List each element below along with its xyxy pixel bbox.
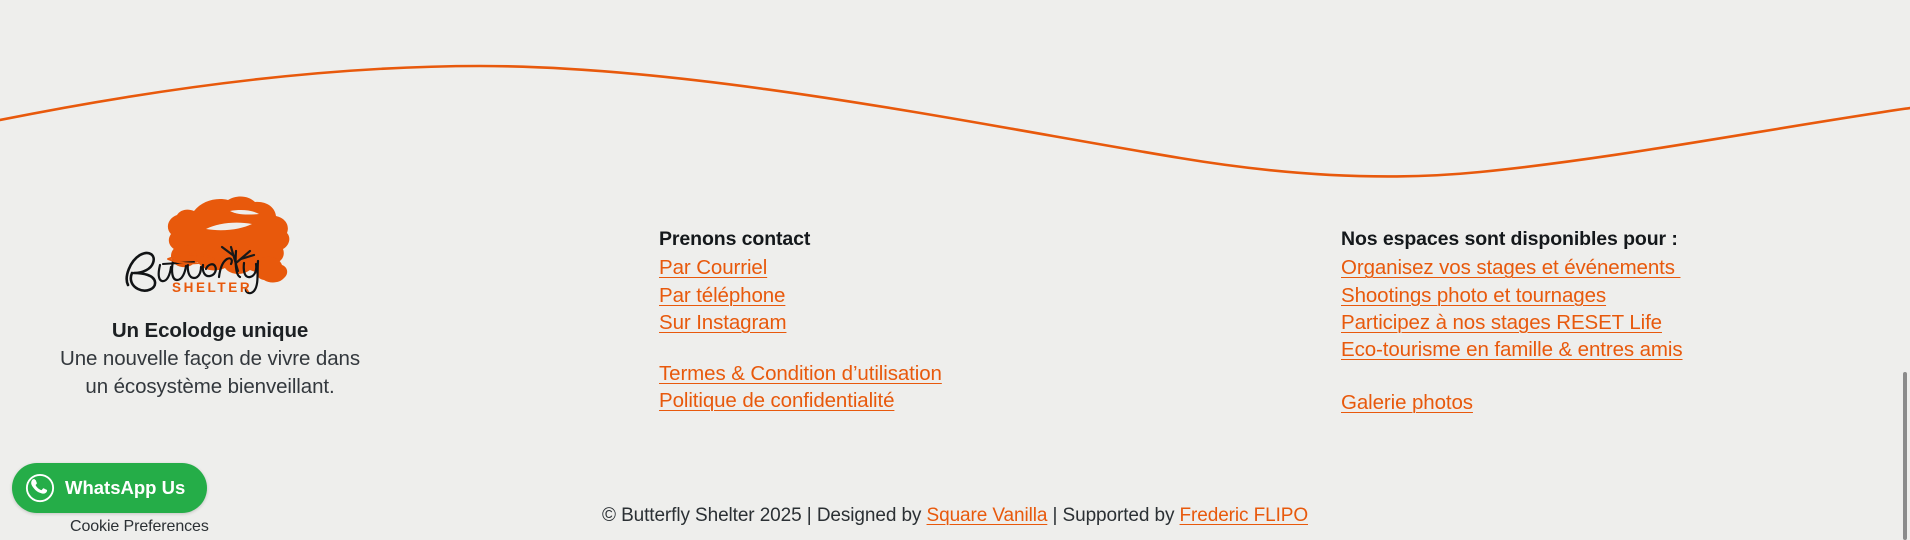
contact-link-phone[interactable]: Par téléphone [659,284,785,307]
designed-by-label: Designed by [817,505,922,526]
footer-spaces-column: Nos espaces sont disponibles pour : Orga… [1341,228,1801,418]
contact-link-instagram[interactable]: Sur Instagram [659,311,786,334]
footer-bottom-bar: © Butterfly Shelter 2025 | Designed by S… [0,505,1910,527]
bottom-separator-1: | [807,505,812,526]
brand-tagline-line-2: un écosystème bienveillant. [0,373,420,401]
site-footer: SHELTER Un Ecolodge unique Une nouvelle … [0,0,1910,540]
brand-tagline-line-1: Une nouvelle façon de vivre dans [0,345,420,373]
spaces-link-ecotourism[interactable]: Eco-tourisme en famille & entres amis [1341,338,1683,361]
logo-shelter-text: SHELTER [172,280,252,295]
bottom-separator-2: | [1053,505,1058,526]
supporter-link[interactable]: Frederic FLIPO [1180,505,1308,526]
whatsapp-icon [25,473,55,503]
designer-link[interactable]: Square Vanilla [927,505,1048,526]
contact-links-spacer [659,338,1079,362]
spaces-link-events[interactable]: Organisez vos stages et événements [1341,256,1681,279]
spaces-link-reset-life[interactable]: Participez à nos stages RESET Life [1341,311,1662,334]
spaces-links-spacer [1341,365,1801,391]
whatsapp-button-label: WhatsApp Us [65,477,185,499]
spaces-heading: Nos espaces sont disponibles pour : [1341,228,1801,251]
brand-tagline-title: Un Ecolodge unique [0,317,420,345]
footer-contact-column: Prenons contact Par Courriel Par télépho… [659,228,1079,416]
spaces-link-shootings[interactable]: Shootings photo et tournages [1341,284,1606,307]
whatsapp-us-button[interactable]: WhatsApp Us [12,463,207,513]
page-scrollbar[interactable] [1899,0,1910,540]
contact-heading: Prenons contact [659,228,1079,251]
butterfly-shelter-logo: SHELTER [110,185,310,295]
footer-brand-column: SHELTER Un Ecolodge unique Une nouvelle … [0,185,420,401]
spaces-link-photo-gallery[interactable]: Galerie photos [1341,391,1473,414]
copyright-text: © Butterfly Shelter 2025 [602,505,802,526]
cookie-preferences-link[interactable]: Cookie Preferences [70,518,209,536]
contact-link-email[interactable]: Par Courriel [659,256,767,279]
legal-link-terms[interactable]: Termes & Condition d’utilisation [659,362,942,385]
scrollbar-thumb[interactable] [1903,372,1907,540]
legal-link-privacy[interactable]: Politique de confidentialité [659,389,894,412]
supported-by-label: Supported by [1063,505,1175,526]
